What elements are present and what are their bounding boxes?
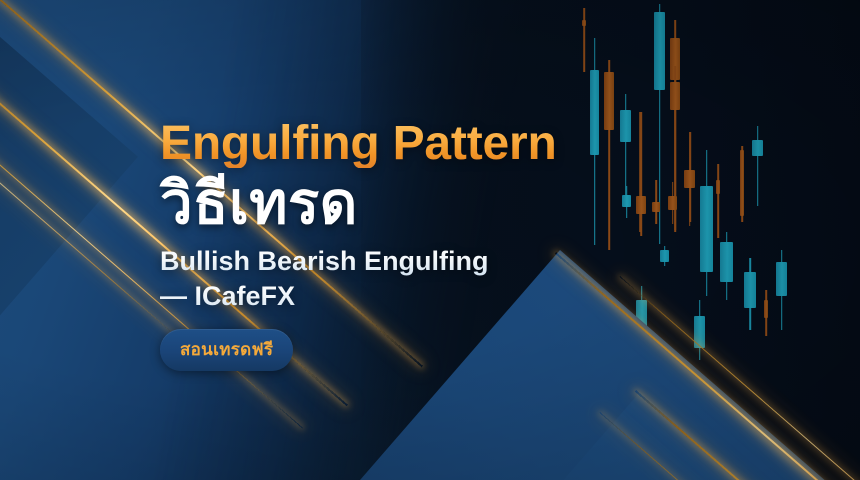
text-content: Engulfing Pattern วิธีเทรด Bullish Beari… [160, 120, 630, 371]
subtitle-line-1: Bullish Bearish Engulfing [160, 245, 630, 278]
thai-headline: วิธีเทรด [160, 174, 630, 235]
subtitle-line-2: — ICafeFX [160, 280, 630, 313]
page-title: Engulfing Pattern [160, 120, 630, 168]
status-badge[interactable]: สอนเทรดฟรี [160, 329, 293, 371]
banner-root: Engulfing Pattern วิธีเทรด Bullish Beari… [0, 0, 860, 480]
